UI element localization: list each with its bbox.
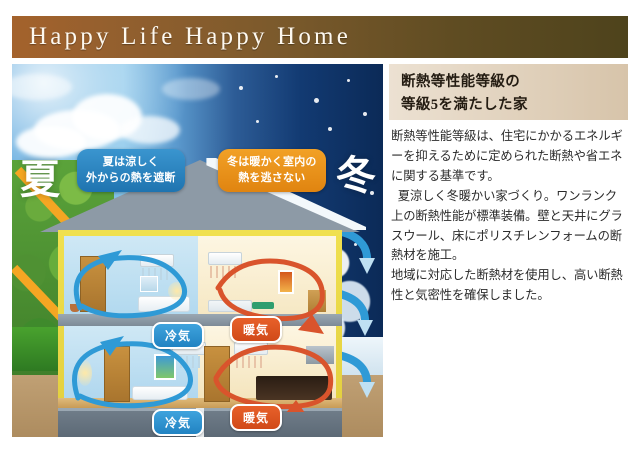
illustration-house-insulation: 夏 冬 夏は涼しく 外からの熱を遮断 冬は暖かく室内の 熱を逃さない 冷気 暖気… [12, 64, 383, 437]
page-title: Happy Life Happy Home [12, 23, 351, 51]
info-panel: 断熱等性能等級の 等級5を満たした家 断熱等性能等級は、住宅にかかるエネルギーを… [389, 64, 628, 306]
cloud-icon [162, 78, 220, 100]
page-root: Happy Life Happy Home [0, 0, 640, 452]
callout-summer-line2: 外からの熱を遮断 [86, 171, 176, 187]
label-warm-air-lower: 暖気 [230, 404, 282, 431]
season-label-summer: 夏 [20, 160, 60, 200]
callout-winter-line1: 冬は暖かく室内の [227, 155, 317, 171]
season-label-winter: 冬 [336, 156, 376, 196]
callout-winter-line2: 熱を逃さない [227, 171, 317, 187]
heading-line2: 等級5を満たした家 [401, 94, 628, 117]
label-cold-air-upper: 冷気 [152, 322, 204, 349]
cloud-icon [120, 116, 180, 144]
label-warm-air-upper: 暖気 [230, 316, 282, 343]
info-panel-body: 断熱等性能等級は、住宅にかかるエネルギーを抑えるために定められた断熱や省エネに関… [389, 120, 628, 306]
callout-winter: 冬は暖かく室内の 熱を逃さない [218, 149, 326, 192]
heading-line1: 断熱等性能等級の [401, 71, 628, 94]
paragraph: 断熱等性能等級は、住宅にかかるエネルギーを抑えるために定められた断熱や省エネに関… [391, 127, 626, 187]
airflow-diagram [58, 230, 342, 412]
cloud-icon [16, 126, 86, 158]
callout-summer: 夏は涼しく 外からの熱を遮断 [77, 149, 185, 192]
paragraph: 地域に対応した断熱材を使用し、高い断熱性と気密性を確保しました。 [391, 266, 626, 306]
paragraph: 夏涼しく冬暖かい家づくり。ワンランク上の断熱性能が標準装備。壁と天井にグラスウー… [391, 187, 626, 267]
callout-summer-line1: 夏は涼しく [86, 155, 176, 171]
info-panel-heading: 断熱等性能等級の 等級5を満たした家 [389, 64, 628, 120]
label-cold-air-lower: 冷気 [152, 409, 204, 436]
page-title-bar: Happy Life Happy Home [12, 16, 628, 58]
